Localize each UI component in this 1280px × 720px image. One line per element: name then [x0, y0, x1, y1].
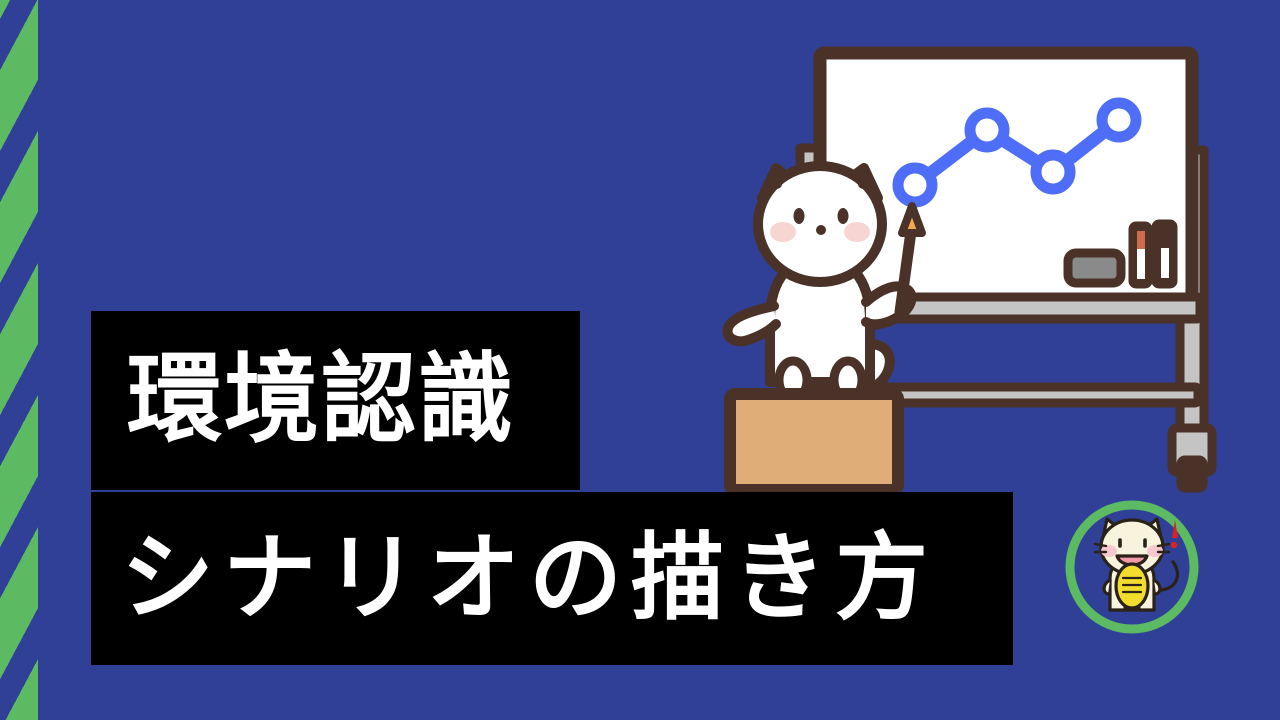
title-block-primary: 環境認識: [91, 311, 580, 490]
slide-canvas: 環境認識 シナリオの描き方: [0, 0, 1280, 720]
cat-head: [758, 166, 882, 282]
diagonal-stripe-band: [0, 0, 38, 720]
whiteboard-marker-red: [1132, 225, 1149, 285]
cat-presenting-at-whiteboard-illustration: [700, 20, 1240, 500]
whiteboard-marker-white: [1155, 223, 1174, 285]
title-line-2: シナリオの描き方: [91, 531, 937, 626]
cat-left-arm: [728, 306, 776, 341]
logo-cat-tail: [1161, 562, 1177, 590]
wooden-box-pedestal: [730, 394, 898, 490]
title-block-secondary: シナリオの描き方: [91, 492, 1013, 665]
channel-logo-badge: [1057, 492, 1207, 642]
whiteboard-eraser: [1068, 253, 1121, 283]
title-line-1: 環境認識: [91, 352, 515, 450]
